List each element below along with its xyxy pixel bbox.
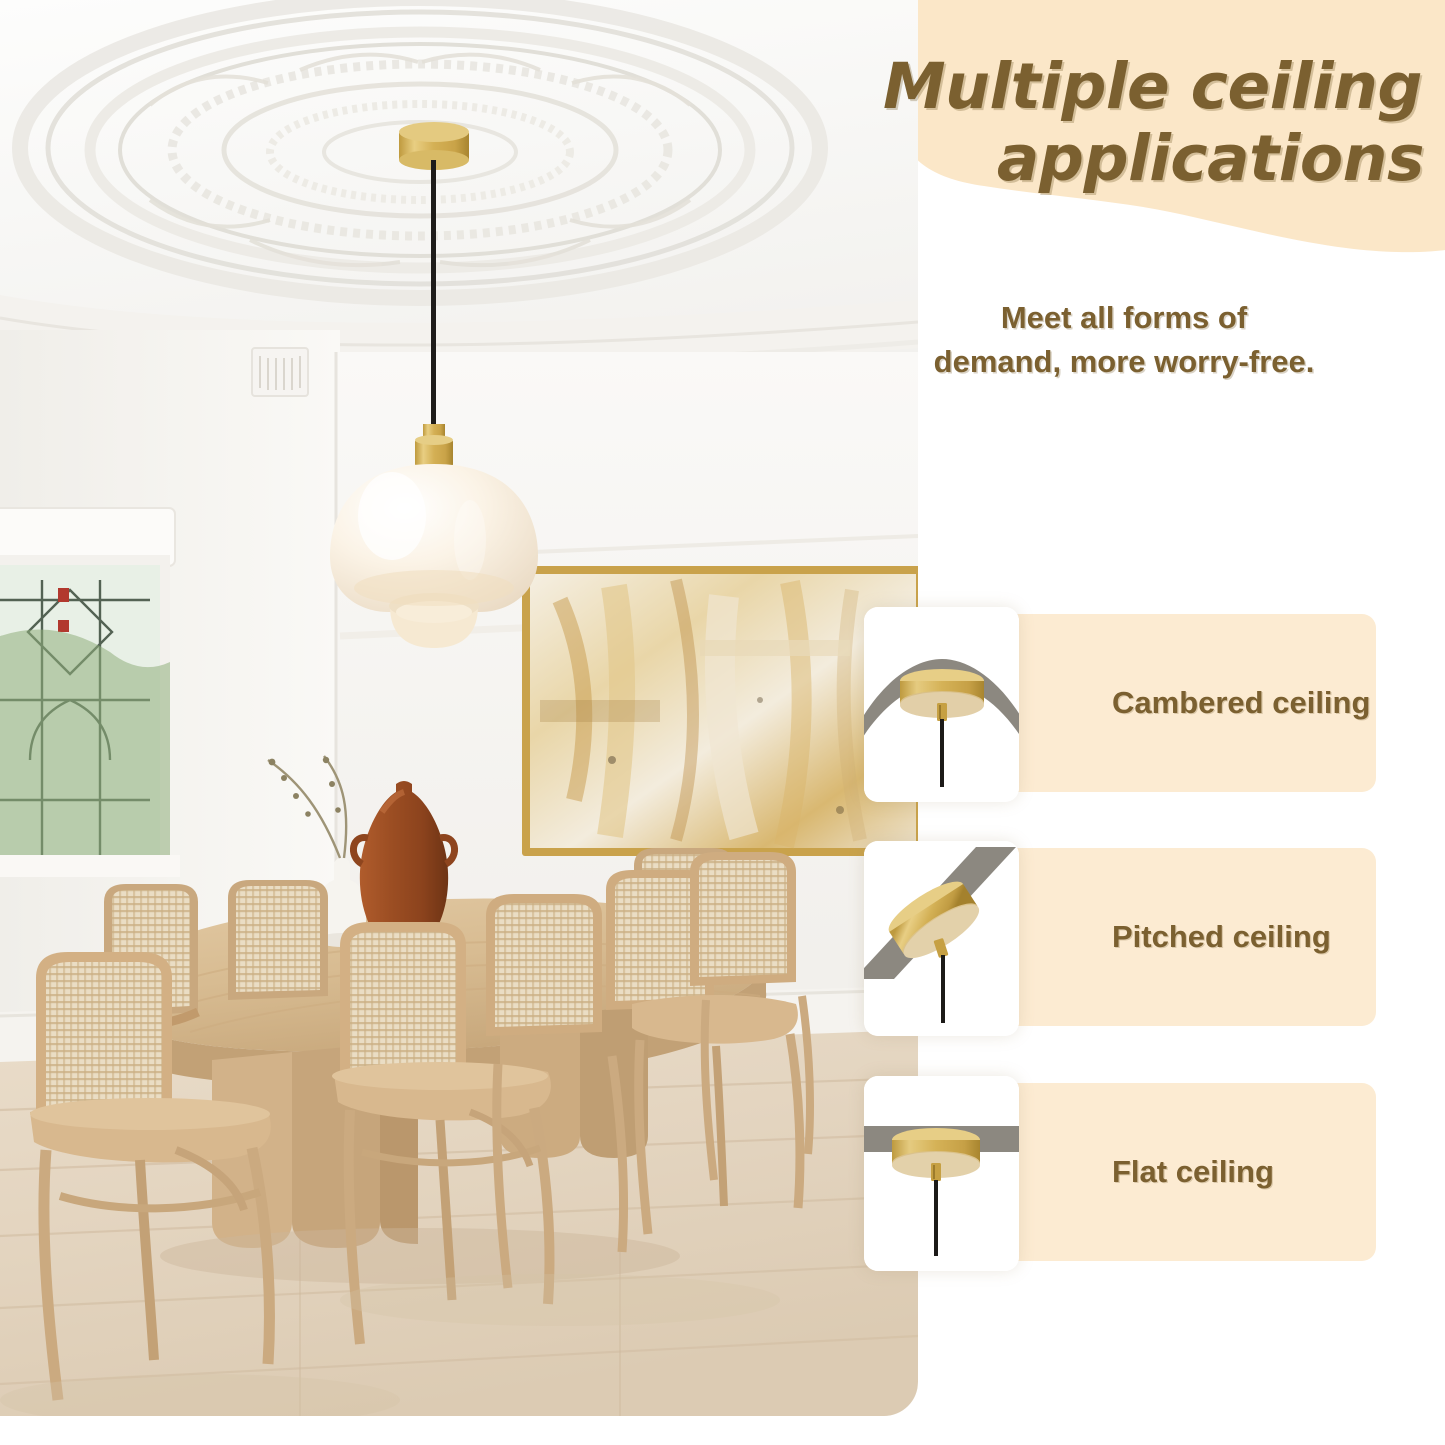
feature-card-label: Pitched ceiling	[1112, 919, 1331, 955]
feature-card-list: Cambered ceiling	[0, 0, 1445, 1445]
cambered-ceiling-mount-icon	[864, 607, 1019, 802]
poster-canvas: Multiple ceiling applications Meet all f…	[0, 0, 1445, 1445]
pitched-ceiling-mount-icon	[864, 841, 1019, 1036]
flat-ceiling-mount-icon	[864, 1076, 1019, 1271]
feature-card-label: Cambered ceiling	[1112, 685, 1370, 721]
feature-card-label: Flat ceiling	[1112, 1154, 1274, 1190]
bottom-margin	[0, 1416, 1445, 1445]
